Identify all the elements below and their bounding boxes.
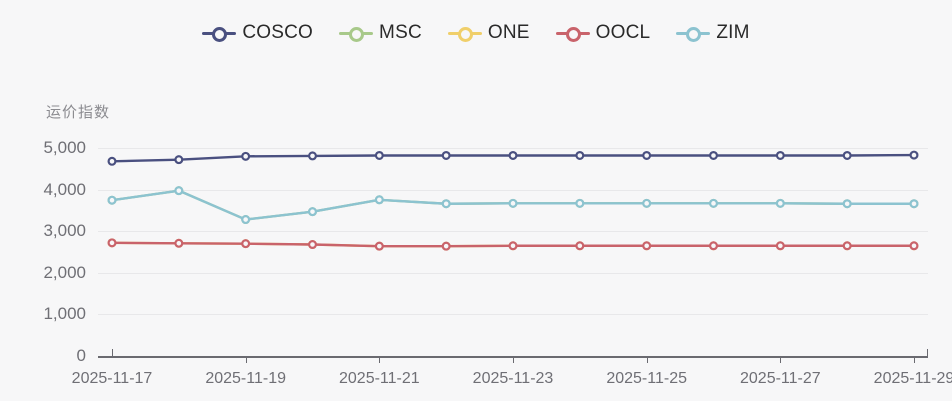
x-axis-tick: [246, 356, 247, 363]
data-point-marker[interactable]: [911, 242, 918, 249]
data-point-marker[interactable]: [175, 156, 182, 163]
y-axis-tick-label: 5,000: [43, 138, 86, 158]
chart-legend: COSCOMSCONEOOCLZIM: [0, 22, 952, 44]
series-layer: [98, 148, 928, 356]
y-axis-title: 运价指数: [46, 101, 110, 122]
legend-marker-icon: [448, 26, 482, 40]
x-axis-tick-label: 2025-11-27: [740, 370, 821, 388]
x-axis-tick: [914, 356, 915, 363]
legend-item-label: OOCL: [596, 22, 651, 44]
legend-marker-icon: [339, 26, 373, 40]
legend-item-label: ONE: [488, 22, 530, 44]
freight-rate-index-chart: COSCOMSCONEOOCLZIM 运价指数 01,0002,0003,000…: [0, 0, 952, 401]
data-point-marker[interactable]: [844, 242, 851, 249]
data-point-marker[interactable]: [376, 196, 383, 203]
y-axis-tick-label: 3,000: [43, 221, 86, 241]
x-axis-tick: [780, 356, 781, 363]
x-axis-tick-label: 2025-11-25: [606, 370, 687, 388]
data-point-marker[interactable]: [576, 200, 583, 207]
data-point-marker[interactable]: [242, 216, 249, 223]
data-point-marker[interactable]: [911, 152, 918, 159]
data-point-marker[interactable]: [844, 200, 851, 207]
data-point-marker[interactable]: [242, 153, 249, 160]
legend-item-label: COSCO: [242, 22, 313, 44]
x-axis-tick: [927, 349, 928, 358]
legend-item-zim[interactable]: ZIM: [676, 22, 749, 44]
legend-marker-icon: [556, 26, 590, 40]
legend-marker-icon: [202, 26, 236, 40]
x-axis-tick-label: 2025-11-21: [339, 370, 420, 388]
series-zim: [109, 187, 918, 223]
x-axis-tick-label: 2025-11-23: [473, 370, 554, 388]
data-point-marker[interactable]: [309, 153, 316, 160]
data-point-marker[interactable]: [710, 242, 717, 249]
data-point-marker[interactable]: [510, 200, 517, 207]
data-point-marker[interactable]: [643, 152, 650, 159]
legend-item-one[interactable]: ONE: [448, 22, 530, 44]
legend-item-label: MSC: [379, 22, 422, 44]
data-point-marker[interactable]: [242, 240, 249, 247]
data-point-marker[interactable]: [710, 200, 717, 207]
y-axis-tick-label: 1,000: [43, 304, 86, 324]
x-axis-tick-label: 2025-11-29: [874, 370, 952, 388]
data-point-marker[interactable]: [777, 152, 784, 159]
data-point-marker[interactable]: [443, 152, 450, 159]
y-axis-tick-label: 2,000: [43, 263, 86, 283]
x-axis-tick: [647, 356, 648, 363]
data-point-marker[interactable]: [376, 152, 383, 159]
series-cosco: [109, 152, 918, 165]
data-point-marker[interactable]: [109, 239, 116, 246]
series-oocl: [109, 239, 918, 249]
x-axis-tick: [513, 356, 514, 363]
legend-item-oocl[interactable]: OOCL: [556, 22, 651, 44]
data-point-marker[interactable]: [510, 242, 517, 249]
y-axis-tick-label: 0: [77, 346, 86, 366]
y-axis-tick-label: 4,000: [43, 180, 86, 200]
legend-marker-icon: [676, 26, 710, 40]
x-axis-tick: [379, 356, 380, 363]
x-axis-tick-label: 2025-11-17: [72, 370, 153, 388]
x-axis-tick-label: 2025-11-19: [205, 370, 286, 388]
data-point-marker[interactable]: [510, 152, 517, 159]
data-point-marker[interactable]: [777, 242, 784, 249]
data-point-marker[interactable]: [175, 240, 182, 247]
data-point-marker[interactable]: [309, 208, 316, 215]
legend-item-cosco[interactable]: COSCO: [202, 22, 313, 44]
legend-item-label: ZIM: [716, 22, 749, 44]
data-point-marker[interactable]: [777, 200, 784, 207]
data-point-marker[interactable]: [576, 242, 583, 249]
data-point-marker[interactable]: [643, 200, 650, 207]
data-point-marker[interactable]: [576, 152, 583, 159]
data-point-marker[interactable]: [175, 187, 182, 194]
data-point-marker[interactable]: [109, 197, 116, 204]
data-point-marker[interactable]: [443, 200, 450, 207]
data-point-marker[interactable]: [309, 241, 316, 248]
data-point-marker[interactable]: [376, 243, 383, 250]
data-point-marker[interactable]: [710, 152, 717, 159]
data-point-marker[interactable]: [443, 243, 450, 250]
data-point-marker[interactable]: [844, 152, 851, 159]
data-point-marker[interactable]: [643, 242, 650, 249]
legend-item-msc[interactable]: MSC: [339, 22, 422, 44]
data-point-marker[interactable]: [109, 158, 116, 165]
data-point-marker[interactable]: [911, 200, 918, 207]
x-axis-tick: [112, 349, 113, 358]
plot-area: 01,0002,0003,0004,0005,000 2025-11-17202…: [98, 148, 928, 356]
